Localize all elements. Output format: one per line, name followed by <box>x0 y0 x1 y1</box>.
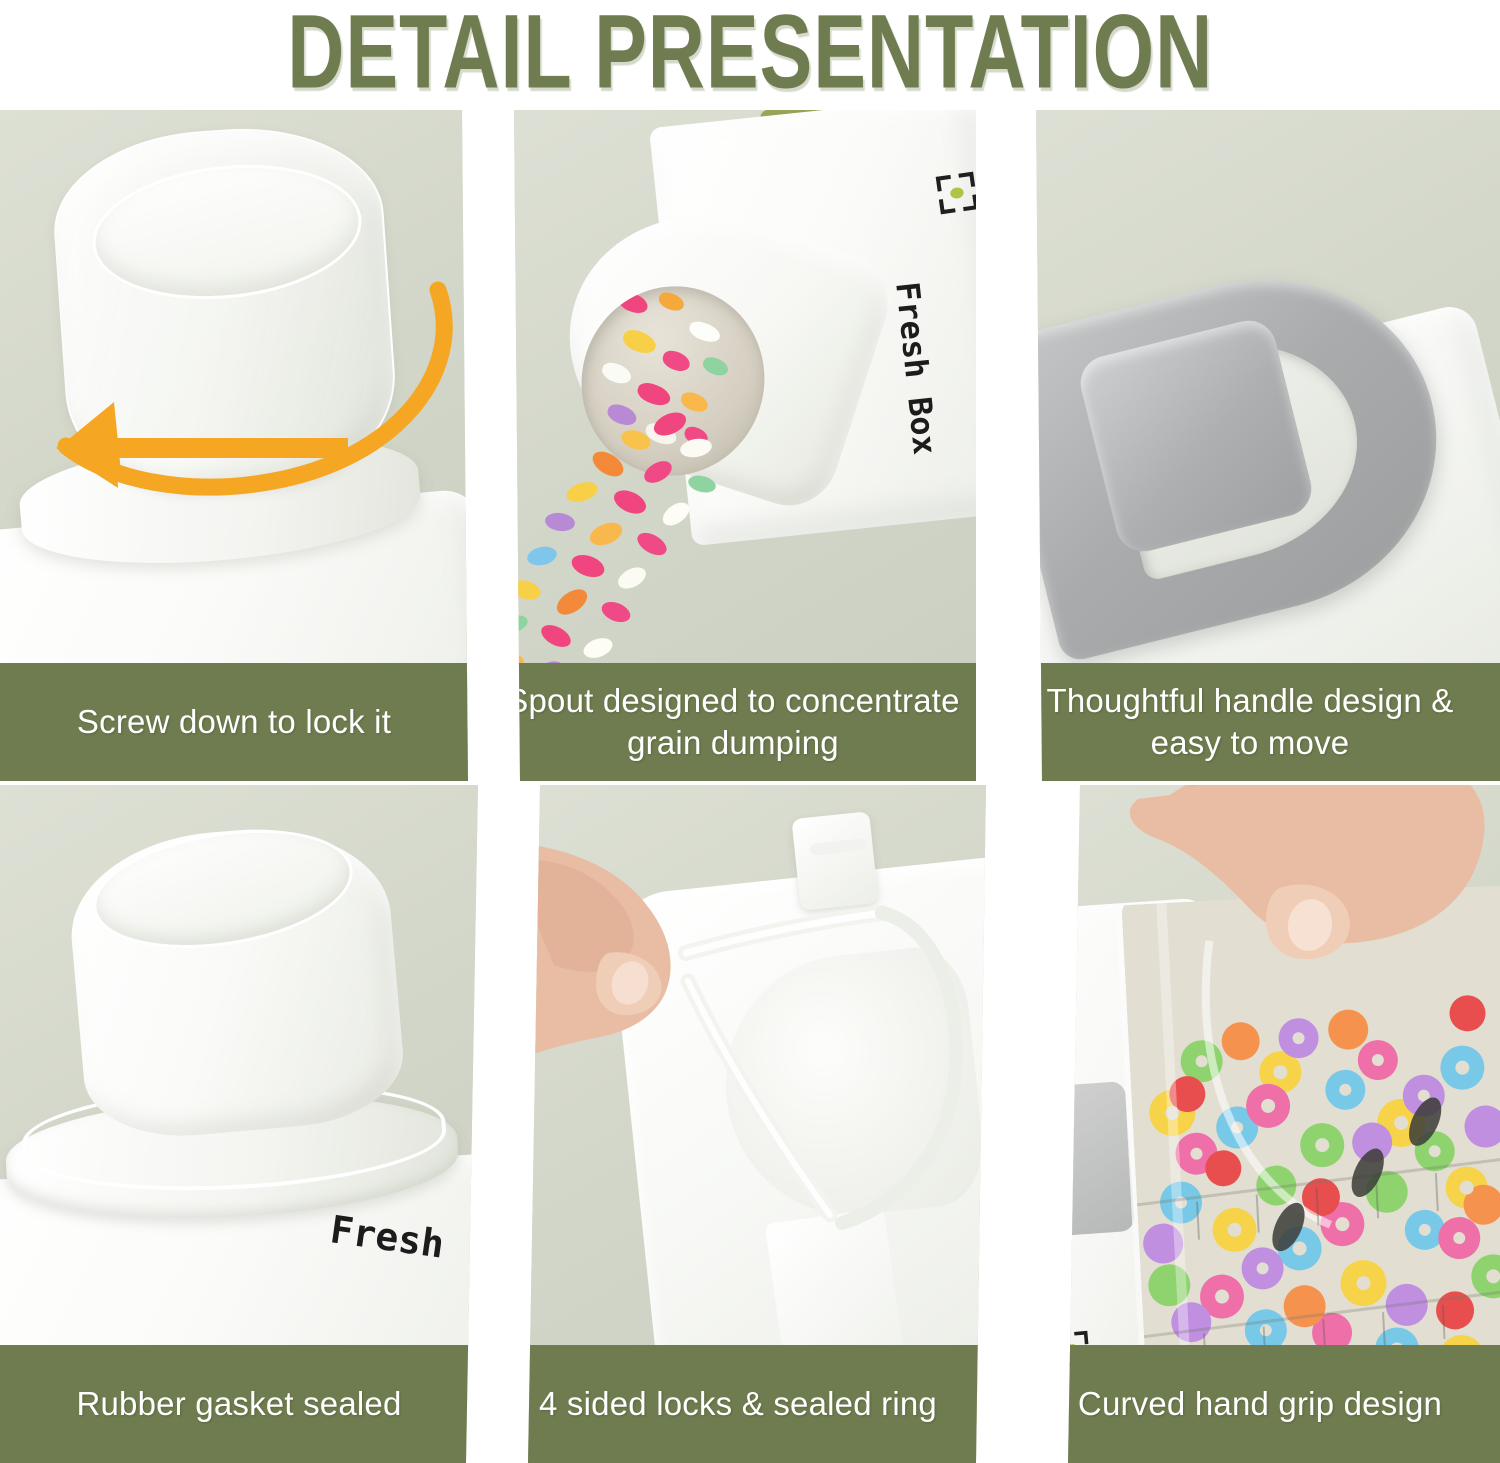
panel-locks[interactable]: 4 sided locks & sealed ring <box>490 785 986 1463</box>
detail-panel-grid: Fresh Box Screw down to lock it <box>0 104 1500 1463</box>
panel-caption: Thoughtful handle design & easy to move <box>1000 663 1500 781</box>
panel-row-bottom: Fresh Rubber gasket sealed <box>0 785 1500 1463</box>
panel-spout[interactable]: Fresh Box Spout designed to concentrate … <box>490 110 976 781</box>
panel-gasket[interactable]: Fresh Rubber gasket sealed <box>0 785 478 1463</box>
page-header: DETAIL PRESENTATION <box>0 0 1500 104</box>
panel-caption: Spout designed to concentrate grain dump… <box>490 663 976 781</box>
fresh-box-logo-icon <box>927 163 976 224</box>
hand <box>490 825 810 1225</box>
hand <box>1110 785 1490 1085</box>
panel-row-top: Fresh Box Screw down to lock it <box>0 104 1500 781</box>
page-title: DETAIL PRESENTATION <box>287 0 1213 112</box>
panel-screw-lock[interactable]: Fresh Box Screw down to lock it <box>0 110 468 781</box>
rotate-arrow-icon <box>18 250 468 510</box>
panel-caption: 4 sided locks & sealed ring <box>490 1345 986 1463</box>
panel-caption: Screw down to lock it <box>0 663 468 781</box>
grey-grip-slot <box>1020 1081 1135 1239</box>
panel-caption: Rubber gasket sealed <box>0 1345 478 1463</box>
panel-grip[interactable]: Fresh Box Curved hand grip design <box>1020 785 1500 1463</box>
panel-handle[interactable]: Thoughtful handle design & easy to move <box>1000 110 1500 781</box>
panel-caption: Curved hand grip design <box>1020 1345 1500 1463</box>
